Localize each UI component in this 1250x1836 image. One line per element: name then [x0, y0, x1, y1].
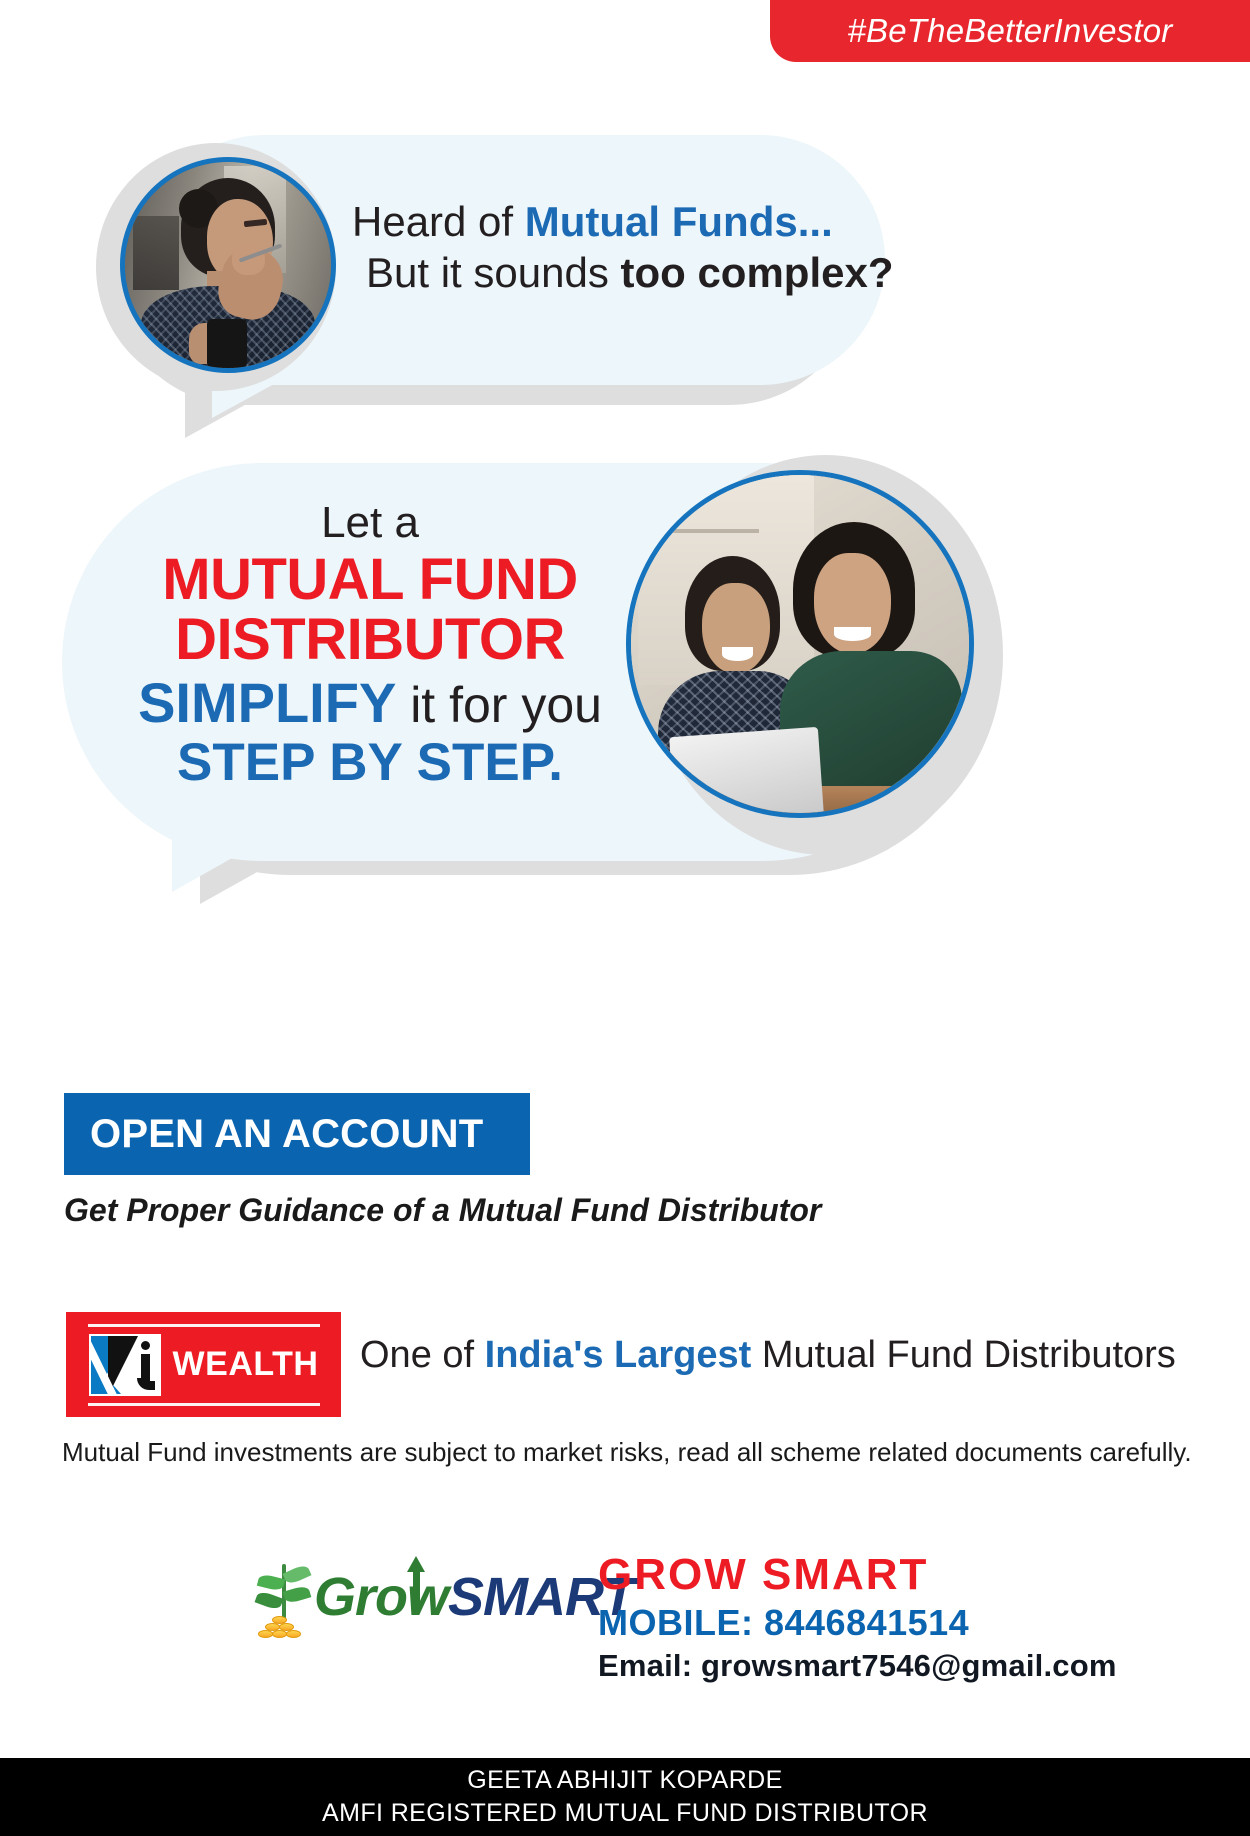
contact-mobile[interactable]: MOBILE: 8446841514: [598, 1602, 1158, 1644]
hashtag-text: #BeTheBetterInvestor: [847, 12, 1172, 50]
mutual-fund-flyer: #BeTheBetterInvestor Heard of Mutual Fun…: [0, 0, 1250, 1836]
nj-wealth-logo: WEALTH: [66, 1312, 341, 1417]
growsmart-logo: GrowSMART: [252, 1548, 508, 1640]
bubble-1-text: Heard of Mutual Funds... But it sounds t…: [352, 196, 862, 298]
bubble-2-tail: [172, 840, 264, 892]
growsmart-wordmark: GrowSMART: [314, 1566, 634, 1628]
contact-email[interactable]: Email: growsmart7546@gmail.com: [598, 1647, 1158, 1684]
bubble-1-line-1-accent: Mutual Funds...: [525, 198, 833, 245]
footer-distributor-credential: AMFI REGISTERED MUTUAL FUND DISTRIBUTOR: [322, 1797, 928, 1830]
nj-wordmark: WEALTH: [173, 1345, 319, 1384]
nj-tagline: One of India's Largest Mutual Fund Distr…: [360, 1334, 1176, 1377]
open-an-account-label: OPEN AN ACCOUNT: [90, 1112, 483, 1157]
nj-tagline-pre: One of: [360, 1334, 485, 1376]
contact-block: GROW SMART MOBILE: 8446841514 Email: gro…: [598, 1552, 1158, 1684]
bubble-2-line-3: DISTRIBUTOR: [110, 610, 630, 670]
photo-1-window-dark: [133, 216, 178, 290]
bubble-1-line-1-plain: Heard of: [352, 198, 525, 245]
nj-monogram-icon: [89, 1334, 161, 1396]
plant-sprout-icon: [256, 1558, 312, 1638]
open-an-account-button[interactable]: OPEN AN ACCOUNT: [64, 1093, 530, 1175]
nj-logo-rule-top: [88, 1324, 320, 1327]
photo-1-phone: [207, 319, 246, 368]
bubble-2-text: Let a MUTUAL FUND DISTRIBUTOR SIMPLIFY i…: [110, 500, 630, 790]
nj-logo-rule-bottom: [88, 1403, 320, 1406]
bubble-1-line-1: Heard of Mutual Funds...: [352, 196, 862, 247]
bubble-1-line-2-accent: too complex?: [620, 249, 893, 296]
photo-2-shelf: [672, 529, 760, 533]
footer-bar: GEETA ABHIJIT KOPARDE AMFI REGISTERED MU…: [0, 1758, 1250, 1836]
avatar-woman-thinking: [120, 157, 336, 373]
bubble-2-line-4: SIMPLIFY it for you: [110, 674, 630, 732]
bubble-2-line-4-plain: it for you: [396, 677, 602, 733]
growsmart-grow-text: Grow: [314, 1567, 448, 1627]
bubble-2-line-5: STEP BY STEP.: [110, 735, 630, 790]
bubble-1-line-2: But it sounds too complex?: [352, 247, 862, 298]
nj-tagline-highlight: India's Largest: [485, 1334, 752, 1376]
hashtag-banner: #BeTheBetterInvestor: [770, 0, 1250, 62]
avatar-two-women-laptop: [626, 470, 974, 818]
nj-tagline-post: Mutual Fund Distributors: [751, 1334, 1176, 1376]
bubble-2-line-2: MUTUAL FUND: [110, 550, 630, 610]
photo-1-hand: [232, 244, 265, 275]
risk-disclaimer: Mutual Fund investments are subject to m…: [62, 1437, 1192, 1468]
cta-subtitle: Get Proper Guidance of a Mutual Fund Dis…: [64, 1192, 821, 1229]
photo-2-woman-b-smile: [834, 627, 871, 641]
bubble-2-simplify-accent: SIMPLIFY: [138, 671, 396, 734]
photo-2-laptop: [669, 727, 823, 818]
footer-distributor-name: GEETA ABHIJIT KOPARDE: [467, 1764, 782, 1797]
coins-icon: [258, 1618, 312, 1638]
bubble-2-line-1: Let a: [110, 500, 630, 546]
contact-business-name: GROW SMART: [598, 1552, 1158, 1598]
bubble-1-line-2-plain: But it sounds: [366, 249, 620, 296]
photo-2-woman-a-smile: [722, 647, 752, 661]
nj-logo-inner: WEALTH: [89, 1334, 319, 1396]
